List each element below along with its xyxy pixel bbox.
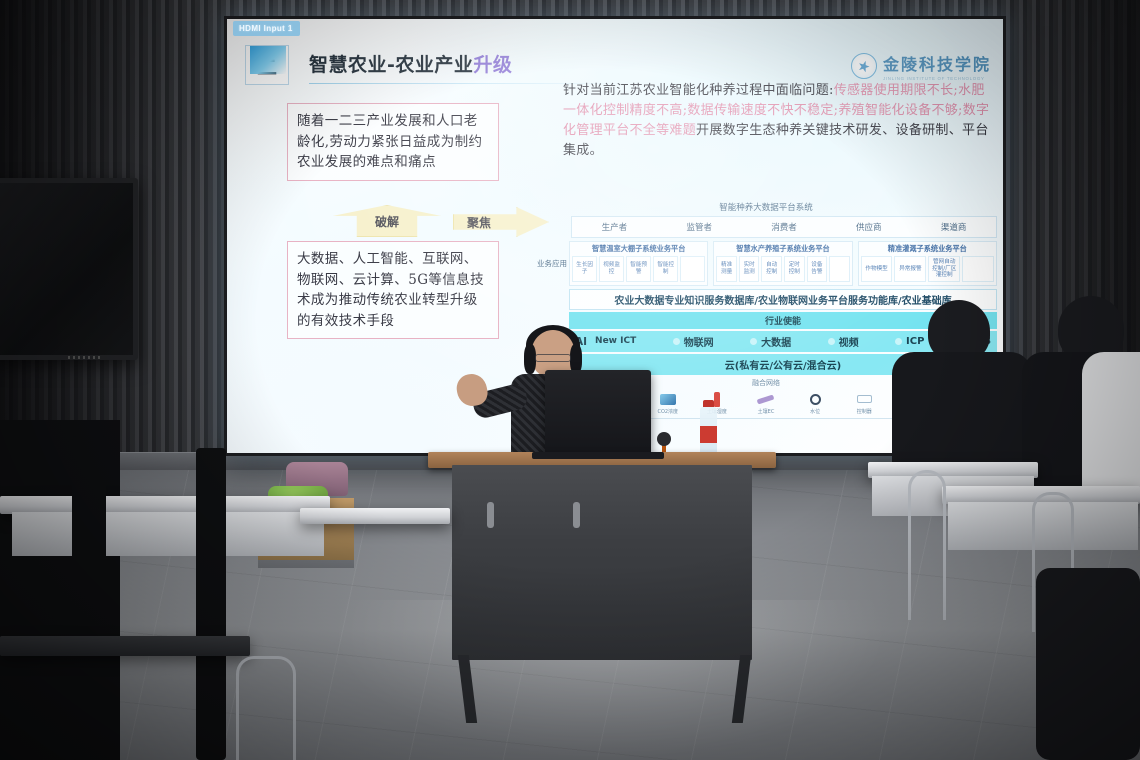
co2-sensor-icon [648,391,688,407]
tech-newict-label: New ICT [595,337,636,346]
platform-cells: 生长因子 视频监控 智能预警 智能控制 [572,256,705,282]
platform-cell-empty [680,256,705,282]
platform-cell: 视频监控 [599,256,624,282]
platform-cell: 管网自动控制/厂区灌控制 [928,256,960,282]
platform-title: 智慧温室大棚子系统业务平台 [572,244,705,254]
student-shirt [1082,352,1140,502]
paragraph-lead: 针对当前江苏农业智能化种养过程中面临问题: [563,83,834,98]
diagram-title: 智能种养大数据平台系统 [535,201,997,213]
hdmi-input-badge: HDMI Input 1 [233,21,300,36]
platform-title: 智慧水产养殖子系统业务平台 [716,244,849,254]
sensor-item: CO2浓度 [648,391,688,415]
podium-handle-left[interactable] [487,502,494,528]
sensor-item: 控制器 [844,391,884,415]
platform-cell: 设备告警 [807,256,828,282]
left-text-box-1: 随着一二三产业发展和人口老龄化,劳动力紧张日益成为制约农业发展的难点和痛点 [287,103,499,181]
front-row-desk-panel [12,512,324,556]
diagram-user-row: 生产者 监管者 消费者 供应商 渠道商 [571,216,997,238]
school-name-cn: 金陵科技学院 [883,55,991,74]
user-role: 生产者 [572,221,657,233]
tech-item: 视频 [839,334,859,349]
arrow-up-label: 破解 [333,205,441,237]
controller-icon [844,391,884,407]
layer-body-business: 智慧温室大棚子系统业务平台 生长因子 视频监控 智能预警 智能控制 [569,241,997,286]
water-level-icon [795,391,835,407]
display-status-leds [68,356,102,359]
platform-cell-empty [962,256,994,282]
platform-row: 智慧温室大棚子系统业务平台 生长因子 视频监控 智能预警 智能控制 [569,241,997,286]
chair-post-left-2 [196,448,226,760]
platform-cell: 实时监测 [739,256,760,282]
student-far-right [1056,312,1140,482]
platform-cells: 精准测量 实时监测 自动控制 定时控制 设备告警 [716,256,849,282]
platform-greenhouse: 智慧温室大棚子系统业务平台 生长因子 视频监控 智能预警 智能控制 [569,241,708,286]
platform-cell: 作物模型 [861,256,893,282]
tech-item: 物联网 [684,334,714,349]
bullet-dot-icon [673,338,680,345]
slide-title-highlight: 升级 [473,54,512,76]
arrow-up-pojie: 破解 [333,205,441,237]
platform-aquaculture: 智慧水产养殖子系统业务平台 精准测量 实时监测 自动控制 定时控制 设备告警 [713,241,852,286]
soil-probe-icon [746,391,786,407]
chair-chrome-rail-3 [236,656,296,760]
water-bottle [700,400,717,458]
sensor-item: 土壤EC [746,391,786,415]
chair-back-foreground[interactable] [1036,568,1140,760]
presenter-glasses [535,354,571,362]
section-number-badge: 二 [245,45,289,85]
bullet-dot-icon [750,338,757,345]
platform-cell: 自动控制 [761,256,782,282]
platform-title: 精准灌溉子系统业务平台 [861,244,994,254]
chair-post-left [72,436,106,760]
presenter-laptop[interactable] [545,370,651,454]
podium-handle-right[interactable] [573,502,580,528]
school-emblem-icon [851,53,877,79]
badge-corner-accent [250,46,286,74]
chair-chrome-rail [908,470,946,620]
user-role: 渠道商 [911,221,996,233]
podium-body [452,465,752,660]
platform-cell-empty [829,256,850,282]
platform-cell: 生长因子 [572,256,597,282]
left-text-box-2: 大数据、人工智能、互联网、物联网、云计算、5G等信息技术成为推动传统农业转型升级… [287,241,499,339]
bottle-label [700,426,717,443]
sensor-label: CO2浓度 [648,408,688,415]
user-role: 监管者 [657,221,742,233]
front-row-desk-dark [0,636,250,656]
platform-irrigation: 精准灌溉子系统业务平台 作物模型 异常报警 管网自动控制/厂区灌控制 [858,241,997,286]
sensor-label: 水位 [795,408,835,415]
microphone-head [657,432,671,446]
classroom-scene: HDMI Input 1 二 智慧农业-农业产业升级 金陵科技学院 JINLIN… [0,0,1140,760]
bullet-dot-icon [828,338,835,345]
sensor-label: 控制器 [844,408,884,415]
platform-cells: 作物模型 异常报警 管网自动控制/厂区灌控制 [861,256,994,282]
bottle-cap [703,400,714,407]
platform-cell: 智能预警 [626,256,651,282]
laptop-keyboard-base [532,452,664,459]
user-role: 消费者 [742,221,827,233]
school-logo-text: 金陵科技学院 JINLING INSTITUTE OF TECHNOLOGY [883,51,991,81]
platform-cell: 智能控制 [653,256,678,282]
display-glass [0,183,133,355]
wall-display-monitor[interactable] [0,178,138,360]
platform-cell: 异常报警 [894,256,926,282]
platform-cell: 精准测量 [716,256,737,282]
tech-item: 大数据 [761,334,791,349]
sensor-item: 水位 [795,391,835,415]
user-role: 供应商 [826,221,911,233]
school-logo: 金陵科技学院 JINLING INSTITUTE OF TECHNOLOGY [851,51,991,81]
right-paragraph: 针对当前江苏农业智能化种养过程中面临问题:传感器使用期限不长;水肥一体化控制精度… [563,81,995,162]
platform-cell: 定时控制 [784,256,805,282]
layer-business-application: 业务应用 智慧温室大棚子系统业务平台 生长因子 视频监控 智能预警 智能控制 [535,241,997,286]
slide-title: 智慧农业-农业产业升级 [309,50,512,77]
layer-label-business: 业务应用 [535,241,569,286]
slide-title-main: 智慧农业-农业产业 [309,54,473,76]
sensor-label: 土壤EC [746,408,786,415]
side-desk [300,508,450,524]
